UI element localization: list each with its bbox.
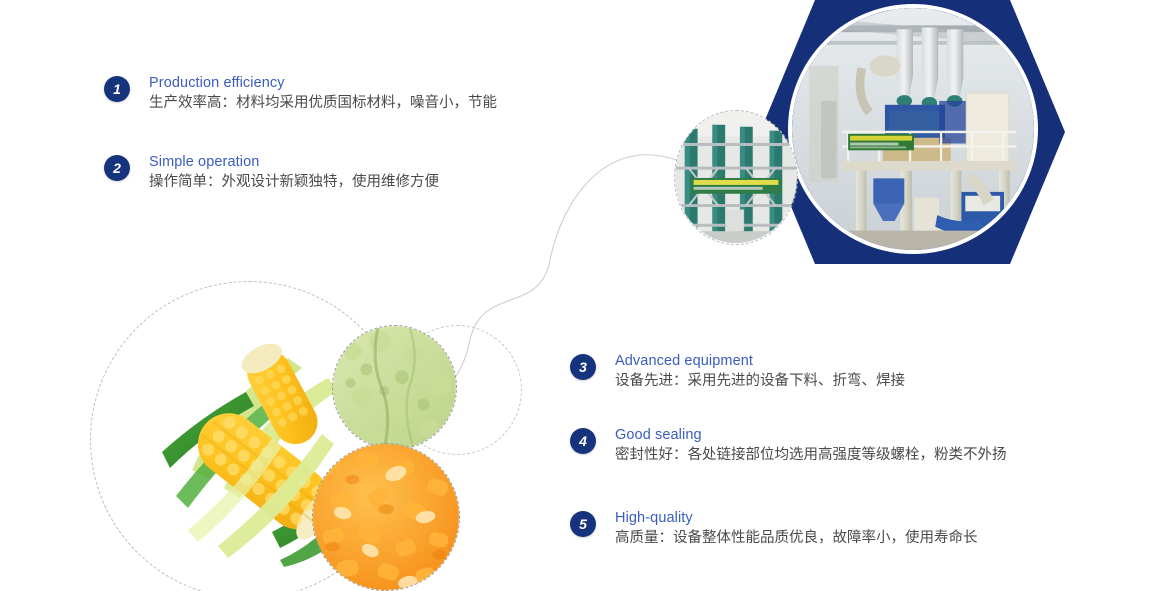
feature-title-5: High-quality — [615, 509, 978, 527]
feature-badge-5: 5 — [570, 511, 596, 537]
feature-text-1: Production efficiency 生产效率高：材料均采用优质国标材料，… — [149, 74, 497, 114]
feature-item-2[interactable]: 2 Simple operation 操作简单：外观设计新颖独特，使用维修方便 — [104, 153, 439, 193]
orange-corn-grits-photo — [312, 443, 460, 591]
feature-badge-3: 3 — [570, 354, 596, 380]
flour-milling-plant-photo — [788, 4, 1038, 254]
feature-description-3: 设备先进：采用先进的设备下料、折弯、焊接 — [615, 371, 905, 392]
feature-text-4: Good sealing 密封性好：各处链接部位均选用高强度等级螺栓，粉类不外扬 — [615, 426, 1007, 466]
feature-badge-1: 1 — [104, 76, 130, 102]
feature-badge-4: 4 — [570, 428, 596, 454]
feature-description-5: 高质量：设备整体性能品质优良，故障率小，使用寿命长 — [615, 528, 978, 549]
feature-badge-2: 2 — [104, 155, 130, 181]
feature-text-2: Simple operation 操作简单：外观设计新颖独特，使用维修方便 — [149, 153, 439, 193]
feature-text-3: Advanced equipment 设备先进：采用先进的设备下料、折弯、焊接 — [615, 352, 905, 392]
feature-title-4: Good sealing — [615, 426, 1007, 444]
green-corn-paste-photo — [332, 325, 457, 450]
feature-text-5: High-quality 高质量：设备整体性能品质优良，故障率小，使用寿命长 — [615, 509, 978, 549]
feature-title-3: Advanced equipment — [615, 352, 905, 370]
feature-item-5[interactable]: 5 High-quality 高质量：设备整体性能品质优良，故障率小，使用寿命长 — [570, 509, 978, 549]
feature-item-4[interactable]: 4 Good sealing 密封性好：各处链接部位均选用高强度等级螺栓，粉类不… — [570, 426, 1007, 466]
feature-item-1[interactable]: 1 Production efficiency 生产效率高：材料均采用优质国标材… — [104, 74, 497, 114]
feature-infographic: 1 Production efficiency 生产效率高：材料均采用优质国标材… — [0, 0, 1154, 591]
feature-title-2: Simple operation — [149, 153, 439, 171]
green-milling-machine-photo — [674, 110, 798, 245]
feature-description-2: 操作简单：外观设计新颖独特，使用维修方便 — [149, 172, 439, 193]
feature-description-1: 生产效率高：材料均采用优质国标材料，噪音小，节能 — [149, 93, 497, 114]
feature-item-3[interactable]: 3 Advanced equipment 设备先进：采用先进的设备下料、折弯、焊… — [570, 352, 905, 392]
feature-title-1: Production efficiency — [149, 74, 497, 92]
feature-description-4: 密封性好：各处链接部位均选用高强度等级螺栓，粉类不外扬 — [615, 445, 1007, 466]
